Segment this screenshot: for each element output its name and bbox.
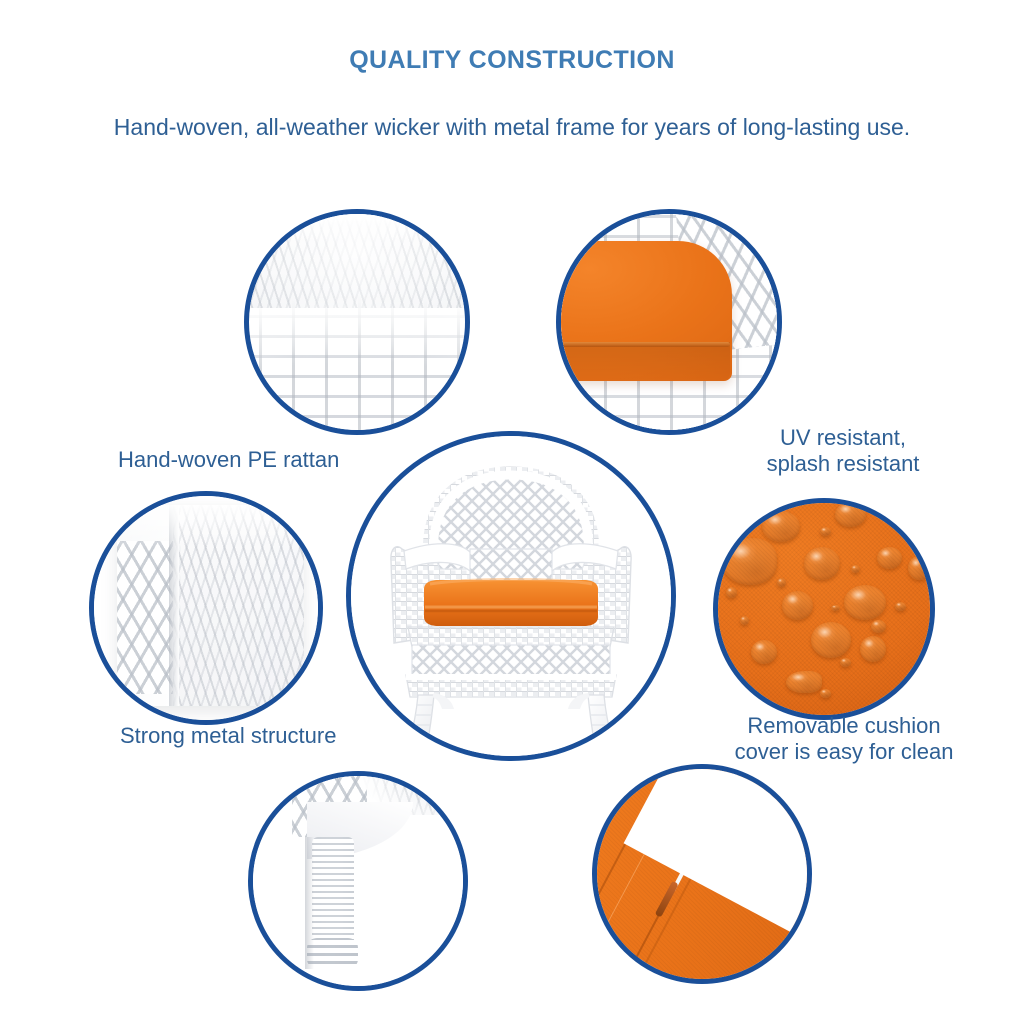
feature-circle-cushion-zipper-detail[interactable] xyxy=(592,764,812,984)
feature-circle-uv-splash-resistant[interactable] xyxy=(556,209,782,435)
wicker-armchair-image xyxy=(346,431,676,761)
label-strong-metal-structure: Strong metal structure xyxy=(120,723,440,749)
hero-circle-product-chair[interactable] xyxy=(346,431,676,761)
page-subtitle: Hand-woven, all-weather wicker with meta… xyxy=(0,114,1024,141)
wicker-arm-corner-image xyxy=(89,491,323,725)
cushion-zipper-image xyxy=(592,764,812,984)
label-uv-splash-resistant: UV resistant, splash resistant xyxy=(718,425,968,476)
feature-circle-chair-leg-detail[interactable] xyxy=(248,771,468,991)
feature-circle-strong-metal-structure[interactable] xyxy=(89,491,323,725)
page-title: QUALITY CONSTRUCTION xyxy=(0,46,1024,75)
cushion-on-wicker-image xyxy=(556,209,782,435)
infographic-canvas: QUALITY CONSTRUCTION Hand-woven, all-wea… xyxy=(0,0,1024,1024)
label-removable-cushion-cover: Removable cushion cover is easy for clea… xyxy=(694,713,994,764)
water-droplets-fabric-image xyxy=(713,498,935,720)
label-hand-woven-pe-rattan: Hand-woven PE rattan xyxy=(118,447,418,473)
feature-circle-hand-woven-pe-rattan[interactable] xyxy=(244,209,470,435)
chair-illustration xyxy=(346,431,676,761)
wicker-weave-image xyxy=(244,209,470,435)
wicker-leg-image xyxy=(248,771,468,991)
feature-circle-removable-cushion-cover[interactable] xyxy=(713,498,935,720)
